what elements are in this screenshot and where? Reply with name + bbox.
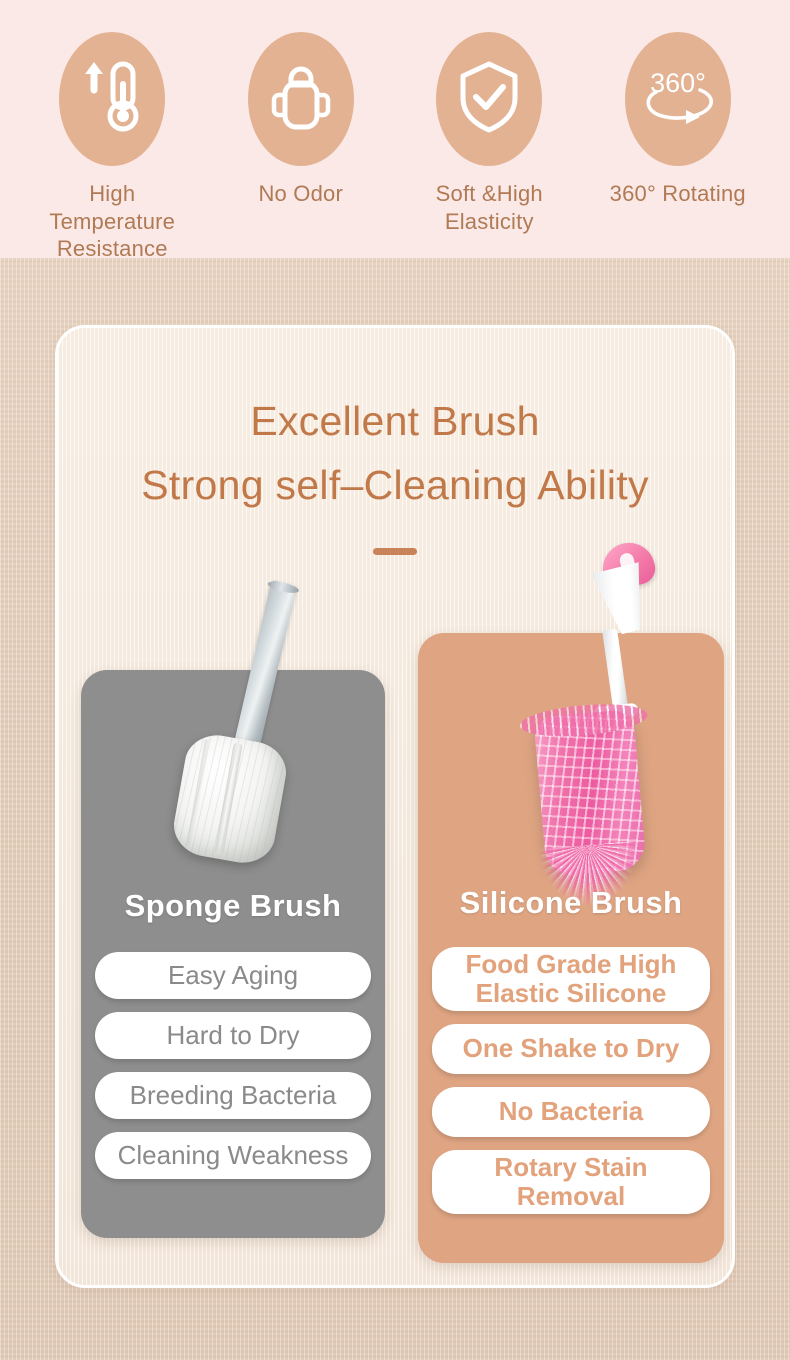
silicone-brush-illustration [418, 533, 724, 873]
feature-360-rotating: 360° 360° Rotating [592, 32, 764, 208]
panel-sponge-brush: Sponge Brush Easy Aging Hard to Dry Bree… [81, 670, 385, 1238]
feature-row: High TemperatureResistance No Odor [0, 32, 790, 263]
feature-soft-high-elasticity: Soft &HighElasticity [403, 32, 575, 235]
list-item: Hard to Dry [95, 1012, 371, 1059]
feature-icon-circle [59, 32, 165, 166]
feature-icon-circle [436, 32, 542, 166]
sponge-brush-illustration [81, 578, 385, 878]
comparison-card: Excellent Brush Strong self–Cleaning Abi… [55, 325, 735, 1288]
list-item: Easy Aging [95, 952, 371, 999]
list-item: One Shake to Dry [432, 1024, 710, 1074]
sponge-feature-list: Easy Aging Hard to Dry Breeding Bacteria… [81, 952, 385, 1192]
panel-silicone-brush: Silicone Brush Food Grade High Elastic S… [418, 633, 724, 1263]
feature-high-temperature-resistance: High TemperatureResistance [26, 32, 198, 263]
feature-label: No Odor [258, 180, 343, 208]
silicone-feature-list: Food Grade High Elastic Silicone One Sha… [418, 947, 724, 1227]
silicone-handle-rod [602, 628, 629, 715]
baby-bottle-icon [269, 61, 333, 138]
shield-check-icon [457, 60, 521, 139]
svg-text:360°: 360° [650, 68, 706, 98]
panel-title-silicone: Silicone Brush [418, 885, 724, 921]
panel-title-sponge: Sponge Brush [81, 888, 385, 924]
list-item: Cleaning Weakness [95, 1132, 371, 1179]
thermometer-up-icon [81, 60, 143, 139]
feature-icon-circle [248, 32, 354, 166]
feature-no-odor: No Odor [215, 32, 387, 208]
list-item: Food Grade High Elastic Silicone [432, 947, 710, 1011]
feature-label: 360° Rotating [610, 180, 746, 208]
rotate-360-icon: 360° [640, 64, 716, 135]
list-item: Breeding Bacteria [95, 1072, 371, 1119]
list-item: Rotary Stain Removal [432, 1150, 710, 1214]
comparison-panels: Sponge Brush Easy Aging Hard to Dry Bree… [58, 328, 732, 1285]
infographic-page: High TemperatureResistance No Odor [0, 0, 790, 1360]
feature-icon-circle: 360° [625, 32, 731, 166]
feature-header-band: High TemperatureResistance No Odor [0, 0, 790, 258]
list-item: No Bacteria [432, 1087, 710, 1137]
feature-label: Soft &HighElasticity [436, 180, 543, 235]
sponge-head [169, 730, 291, 868]
feature-label: High TemperatureResistance [26, 180, 198, 263]
